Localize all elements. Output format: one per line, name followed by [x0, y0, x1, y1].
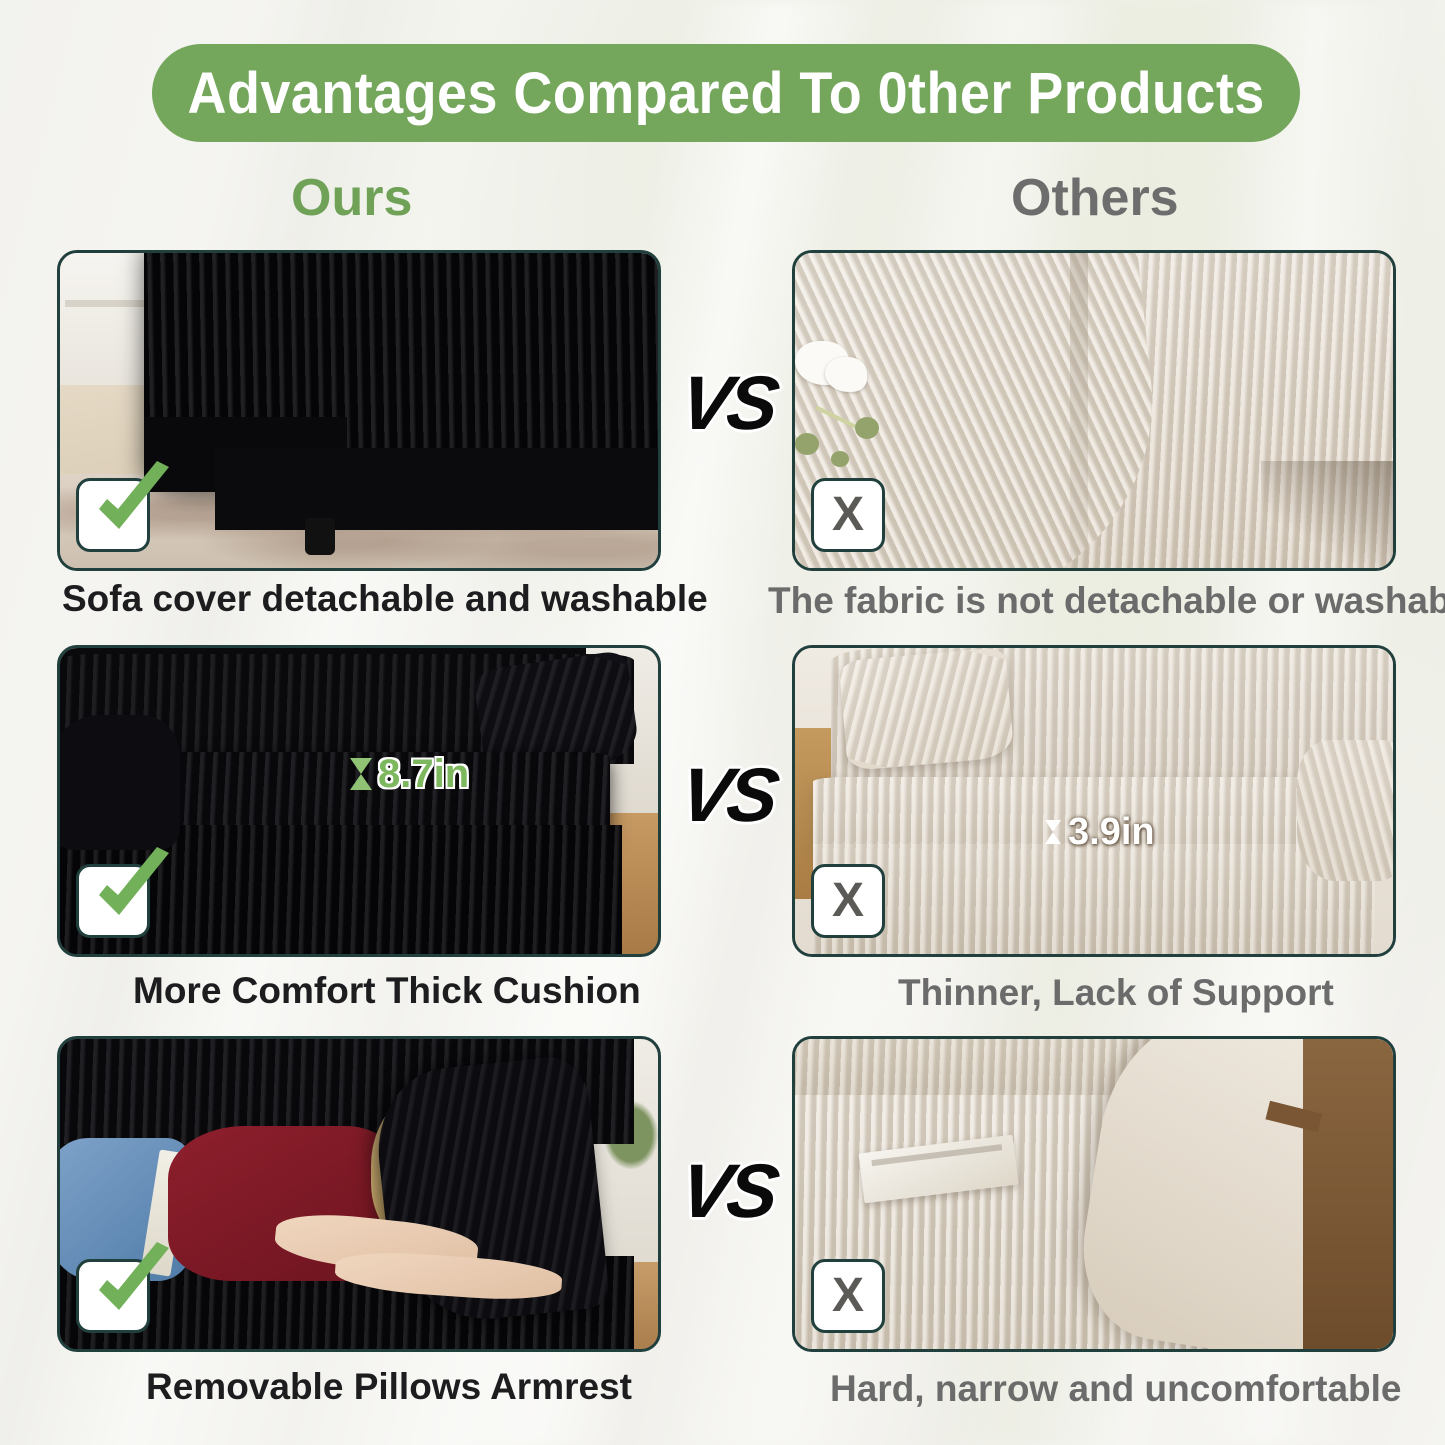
vs-mark-1: VS	[675, 360, 781, 447]
vs-mark-3: VS	[675, 1148, 781, 1235]
x-icon: X	[814, 867, 882, 935]
photo-seam	[1070, 253, 1088, 568]
column-heading-ours: Ours	[291, 168, 412, 228]
check-badge	[76, 478, 150, 552]
check-badge	[76, 1259, 150, 1333]
ours-dimension-annotation: 8.7in	[352, 700, 469, 848]
check-icon	[85, 845, 177, 937]
arrow-head-down	[350, 758, 372, 774]
photo-shadow	[1261, 461, 1393, 568]
photo-sofa-arm	[1297, 740, 1393, 881]
ours-caption-1: Sofa cover detachable and washable	[62, 578, 708, 620]
x-badge: X	[811, 1259, 885, 1333]
ours-caption-2: More Comfort Thick Cushion	[133, 970, 641, 1012]
others-dimension-label: 3.9in	[1068, 811, 1155, 854]
vs-mark-2: VS	[675, 752, 781, 839]
photo-back-pillow	[838, 648, 1014, 771]
x-badge: X	[811, 864, 885, 938]
comparison-infographic: Advantages Compared To 0ther Products Ou…	[0, 0, 1445, 1445]
ours-caption-3: Removable Pillows Armrest	[146, 1366, 632, 1408]
fabric-ribs	[1297, 740, 1393, 881]
ours-photo-card-1	[57, 250, 661, 571]
x-badge: X	[811, 478, 885, 552]
x-icon: X	[814, 481, 882, 549]
others-caption-3: Hard, narrow and uncomfortable	[830, 1368, 1402, 1410]
check-icon	[85, 459, 177, 551]
others-photo-card-3: X	[792, 1036, 1396, 1352]
arrow-head-up	[1045, 832, 1061, 844]
header-title: Advantages Compared To 0ther Products	[187, 60, 1264, 127]
ours-dimension-label: 8.7in	[378, 752, 469, 797]
header-banner-pill: Advantages Compared To 0ther Products	[152, 44, 1300, 142]
check-badge	[76, 864, 150, 938]
column-heading-others: Others	[1011, 168, 1179, 228]
others-dimension-annotation: 3.9in	[1046, 796, 1155, 868]
photo-sofa-arm	[60, 715, 180, 850]
photo-wood-chair	[1303, 1039, 1393, 1349]
photo-sofa-base	[215, 448, 658, 530]
orchid-bud	[795, 433, 819, 455]
arrow-head-up	[350, 774, 372, 790]
orchid-bud	[855, 417, 879, 439]
arrow-head-down	[1045, 820, 1061, 832]
orchid-bud	[831, 451, 849, 467]
others-caption-2: Thinner, Lack of Support	[898, 972, 1334, 1014]
others-caption-1: The fabric is not detachable or washable	[768, 580, 1445, 622]
ours-photo-card-3	[57, 1036, 661, 1352]
header-banner: Advantages Compared To 0ther Products	[152, 44, 1300, 142]
orchid-petal	[825, 357, 867, 392]
check-icon	[85, 1240, 177, 1332]
x-icon: X	[814, 1262, 882, 1330]
fabric-ribs	[838, 648, 1014, 771]
photo-sofa-foot	[305, 518, 335, 556]
others-photo-card-1: X	[792, 250, 1396, 571]
